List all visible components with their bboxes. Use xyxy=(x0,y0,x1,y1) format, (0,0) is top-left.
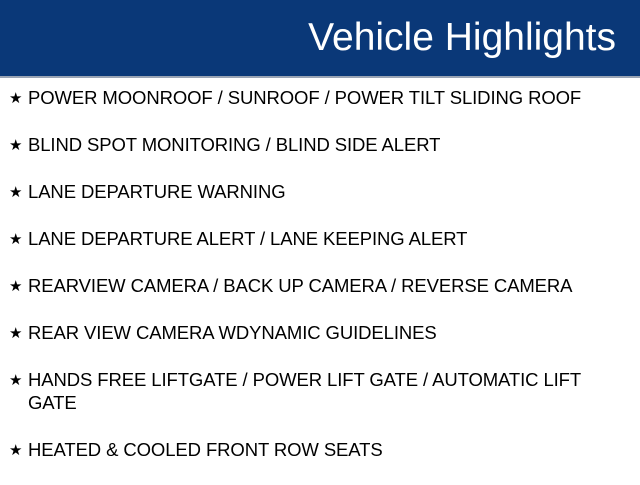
star-bullet-icon: ★ xyxy=(9,438,28,462)
list-item: ★ POWER MOONROOF / SUNROOF / POWER TILT … xyxy=(0,86,640,133)
list-item-label: LANE DEPARTURE ALERT / LANE KEEPING ALER… xyxy=(28,227,628,250)
star-bullet-icon: ★ xyxy=(9,227,28,251)
list-item: ★ LANE DEPARTURE ALERT / LANE KEEPING AL… xyxy=(0,227,640,274)
star-bullet-icon: ★ xyxy=(9,321,28,345)
list-item-label: POWER MOONROOF / SUNROOF / POWER TILT SL… xyxy=(28,86,628,109)
list-item: ★ HANDS FREE LIFTGATE / POWER LIFT GATE … xyxy=(0,368,640,438)
list-item: ★ HEATED & COOLED FRONT ROW SEATS xyxy=(0,438,640,485)
header-banner: Vehicle Highlights xyxy=(0,0,640,76)
list-item: ★ REAR VIEW CAMERA WDYNAMIC GUIDELINES xyxy=(0,321,640,368)
star-bullet-icon: ★ xyxy=(9,133,28,157)
list-item: ★ LANE DEPARTURE WARNING xyxy=(0,180,640,227)
list-item-label: BLIND SPOT MONITORING / BLIND SIDE ALERT xyxy=(28,133,628,156)
page-title: Vehicle Highlights xyxy=(308,18,616,57)
list-item-label: REAR VIEW CAMERA WDYNAMIC GUIDELINES xyxy=(28,321,628,344)
list-item: ★ REARVIEW CAMERA / BACK UP CAMERA / REV… xyxy=(0,274,640,321)
list-item-label: HANDS FREE LIFTGATE / POWER LIFT GATE / … xyxy=(28,368,628,414)
list-item-label: REARVIEW CAMERA / BACK UP CAMERA / REVER… xyxy=(28,274,628,297)
star-bullet-icon: ★ xyxy=(9,368,28,392)
vehicle-highlights-list: ★ POWER MOONROOF / SUNROOF / POWER TILT … xyxy=(0,86,640,485)
header-divider xyxy=(0,76,640,78)
star-bullet-icon: ★ xyxy=(9,86,28,110)
list-item: ★ BLIND SPOT MONITORING / BLIND SIDE ALE… xyxy=(0,133,640,180)
star-bullet-icon: ★ xyxy=(9,180,28,204)
list-item-label: HEATED & COOLED FRONT ROW SEATS xyxy=(28,438,628,461)
vehicle-highlights-page: Vehicle Highlights ★ POWER MOONROOF / SU… xyxy=(0,0,640,480)
list-item-label: LANE DEPARTURE WARNING xyxy=(28,180,628,203)
star-bullet-icon: ★ xyxy=(9,274,28,298)
